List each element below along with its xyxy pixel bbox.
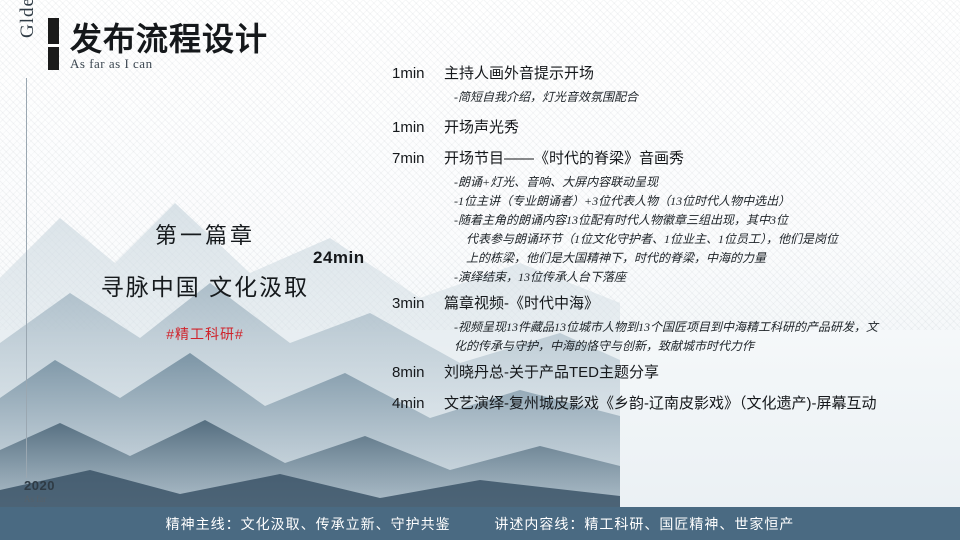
footer-left-text: 精神主线：文化汲取、传承立新、守护共鉴 [166,516,451,532]
year-sublabel-line1: As far [24,494,46,504]
agenda-item: 3min 篇章视频-《时代中海》 [392,292,948,316]
agenda-headline: 文艺演绎-复州城皮影戏《乡韵-辽南皮影戏》（文化遗产)-屏幕互动 [444,392,876,416]
agenda-headline: 开场节目——《时代的脊梁》音画秀 [444,147,684,171]
agenda-detail: -视频呈现13件藏品13位城市人物到13个国匠项目到中海精工科研的产品研发，文 [392,318,948,337]
agenda-headline: 开场声光秀 [444,116,519,140]
vertical-divider [26,78,27,478]
agenda-detail: -简短自我介绍，灯光音效氛围配合 [392,88,948,107]
agenda-time: 3min [392,292,444,316]
brand-logo-text: Gldea [17,0,39,38]
agenda-detail: -1位主讲（专业朗诵者）+3位代表人物（13位时代人物中选出） [392,192,948,211]
chapter-title: 寻脉中国 文化汲取 [60,268,350,302]
slide: Gldea 发布流程设计 As far as I can 第一篇章 寻脉中国 文… [0,0,960,540]
chapter-tag: #精工科研# [60,324,350,344]
agenda-detail: -朗诵+灯光、音响、大屏内容联动呈现 [392,173,948,192]
agenda-headline: 刘晓丹总-关于产品TED主题分享 [444,361,659,385]
agenda-time: 4min [392,392,444,416]
page-subtitle: As far as I can [70,56,153,72]
chapter-number: 第一篇章 [60,218,350,250]
page-title: 发布流程设计 [70,14,268,60]
agenda-detail: -演绎结束，13位传承人台下落座 [392,268,948,287]
agenda-headline: 篇章视频-《时代中海》 [444,292,599,316]
agenda-detail: -随着主角的朗诵内容13位配有时代人物徽章三组出现，其中3位 [392,211,948,230]
brand-logo: Gldea [10,18,52,76]
footer-bar: 精神主线：文化汲取、传承立新、守护共鉴 讲述内容线：精工科研、国匠精神、世家恒产 [0,507,960,540]
agenda-item: 7min 开场节目——《时代的脊梁》音画秀 [392,147,948,171]
chapter-block: 第一篇章 寻脉中国 文化汲取 #精工科研# [60,218,350,344]
chapter-duration: 24min [313,248,365,268]
agenda-list: 1min 主持人画外音提示开场 -简短自我介绍，灯光音效氛围配合 1min 开场… [392,62,948,418]
agenda-time: 8min [392,361,444,385]
agenda-item: 4min 文艺演绎-复州城皮影戏《乡韵-辽南皮影戏》（文化遗产)-屏幕互动 [392,392,948,416]
title-marker-icon [48,18,59,70]
agenda-headline: 主持人画外音提示开场 [444,62,594,86]
agenda-item: 1min 主持人画外音提示开场 [392,62,948,86]
agenda-item: 1min 开场声光秀 [392,116,948,140]
agenda-detail: 上的栋梁，他们是大国精神下，时代的脊梁，中海的力量 [392,249,948,268]
footer-right-text: 讲述内容线：精工科研、国匠精神、世家恒产 [494,516,794,532]
footer-text: 精神主线：文化汲取、传承立新、守护共鉴 讲述内容线：精工科研、国匠精神、世家恒产 [166,514,795,534]
agenda-detail: 化的传承与守护，中海的恪守与创新，致献城市时代力作 [392,337,948,356]
year-label: 2020 [24,478,55,493]
agenda-detail: 代表参与朗诵环节（1位文化守护者、1位业主、1位员工），他们是岗位 [392,230,948,249]
agenda-time: 1min [392,62,444,86]
agenda-time: 1min [392,116,444,140]
agenda-time: 7min [392,147,444,171]
agenda-item: 8min 刘晓丹总-关于产品TED主题分享 [392,361,948,385]
